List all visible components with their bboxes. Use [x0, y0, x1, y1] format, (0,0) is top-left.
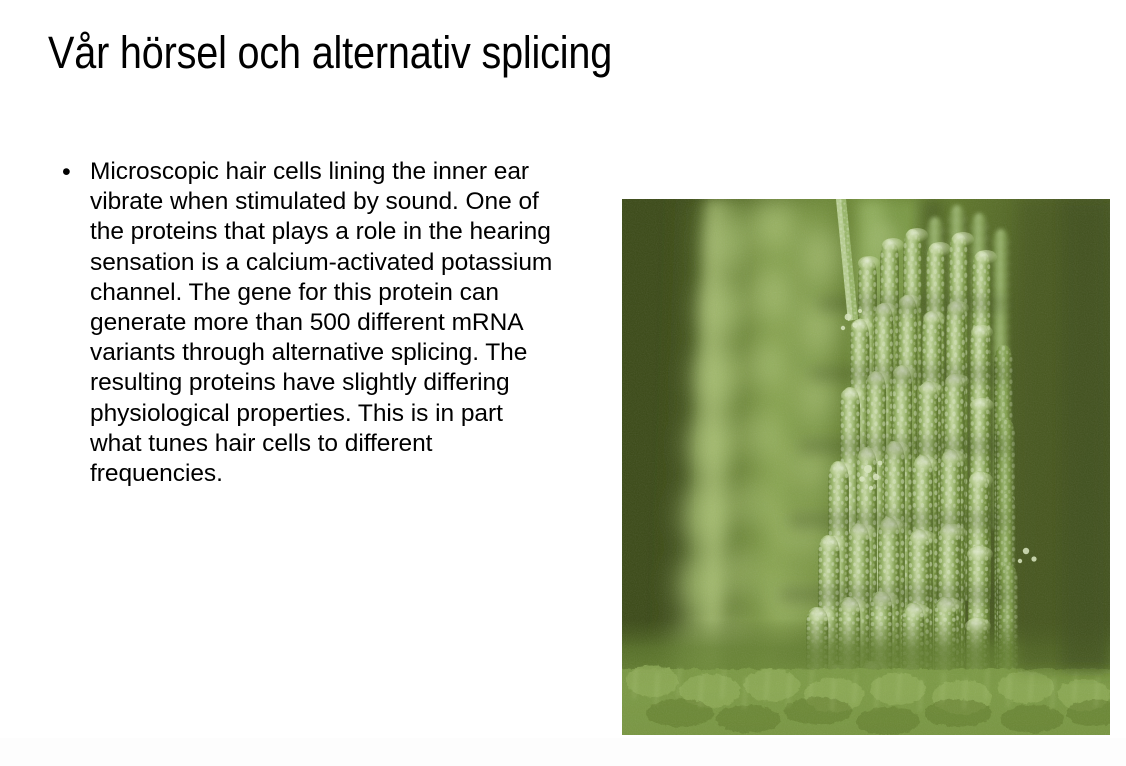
stereocilia-micrograph-image [622, 199, 1110, 735]
bullet-paragraph-text: Microscopic hair cells lining the inner … [90, 158, 552, 487]
body-content-placeholder: • Microscopic hair cells lining the inne… [56, 157, 556, 489]
page-title: Vår hörsel och alternativ splicing [48, 26, 954, 80]
presentation-slide: Vår hörsel och alternativ splicing • Mic… [0, 0, 1126, 766]
list-item: • Microscopic hair cells lining the inne… [56, 157, 556, 489]
bullet-icon: • [62, 157, 71, 187]
sem-noise-overlay [622, 199, 1110, 735]
micrograph-illustration [622, 199, 1110, 735]
slide-footer-band [0, 738, 1126, 766]
